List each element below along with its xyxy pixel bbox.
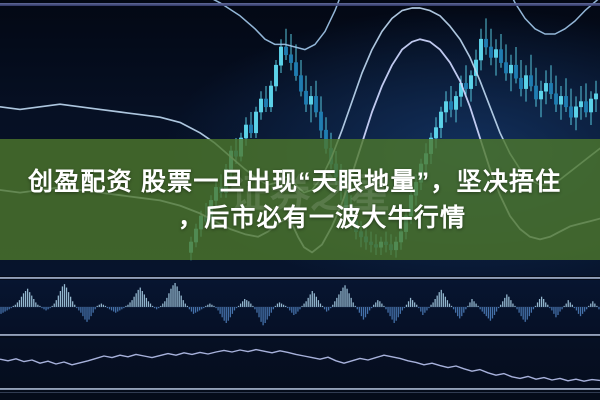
macd-bar	[176, 286, 177, 307]
macd-bar	[185, 304, 186, 307]
macd-bar	[269, 307, 270, 316]
macd-bar	[224, 307, 225, 321]
macd-bar	[35, 302, 36, 307]
macd-bar	[387, 307, 388, 313]
macd-bar	[80, 307, 81, 313]
macd-bar	[365, 307, 366, 317]
macd-bar	[277, 304, 278, 307]
candle-body	[594, 94, 597, 99]
candlestick	[584, 83, 587, 117]
macd-bar	[332, 305, 333, 307]
macd-bar	[449, 304, 450, 307]
candle-body	[319, 112, 322, 130]
candlestick	[569, 89, 572, 125]
macd-bar	[189, 307, 190, 309]
macd-bar	[230, 307, 231, 317]
macd-bar	[320, 304, 321, 307]
macd-bar	[512, 304, 513, 307]
macd-bar	[146, 298, 147, 307]
headline-line-1: 创盈配资 股票一旦出现“天眼地量”，坚决捂住	[0, 164, 600, 200]
candlestick	[539, 81, 542, 117]
macd-bar	[254, 307, 255, 309]
macd-bar	[594, 304, 595, 307]
candle-body	[249, 125, 252, 133]
candle-body	[539, 91, 542, 99]
macd-bar	[246, 300, 247, 307]
candlestick	[299, 60, 302, 96]
macd-bar	[566, 304, 567, 307]
macd-bar	[359, 307, 360, 313]
candlestick	[249, 112, 252, 138]
macd-bar	[183, 300, 184, 307]
candle-body	[584, 102, 587, 112]
macd-bar	[250, 304, 251, 307]
macd-bar	[142, 291, 143, 307]
macd-bar	[207, 305, 208, 307]
headline-overlay-band: 证券之星 创盈配资 股票一旦出现“天眼地量”，坚决捂住 ，后市必有一波大牛行情	[0, 139, 600, 260]
candlestick	[499, 34, 502, 68]
macd-bar	[84, 307, 85, 320]
macd-bar	[303, 304, 304, 307]
candlestick	[469, 70, 472, 101]
macd-bar	[586, 307, 587, 309]
macd-bar	[293, 307, 294, 315]
candlestick	[484, 18, 487, 54]
macd-bar	[533, 307, 534, 309]
macd-bar	[363, 307, 364, 320]
macd-bar	[471, 299, 472, 307]
macd-bar	[346, 289, 347, 307]
oscillator-panel	[0, 338, 600, 388]
macd-bar	[518, 307, 519, 313]
macd-bar	[578, 307, 579, 314]
candle-body	[269, 86, 272, 107]
macd-bar	[58, 296, 59, 307]
macd-bar	[240, 304, 241, 307]
candle-body	[254, 112, 257, 133]
macd-bar	[529, 307, 530, 316]
macd-bar	[445, 297, 446, 307]
macd-bar	[90, 307, 91, 316]
chart-top-border	[0, 3, 600, 6]
candle-body	[489, 47, 492, 57]
macd-bar	[117, 307, 118, 312]
macd-bar	[572, 305, 573, 307]
macd-bar	[396, 307, 397, 321]
macd-bar	[23, 293, 24, 307]
macd-bar	[543, 299, 544, 307]
candle-body	[554, 94, 557, 104]
candle-body	[444, 102, 447, 112]
macd-bar	[437, 296, 438, 307]
candlestick	[544, 70, 547, 104]
macd-bar	[525, 307, 526, 322]
macd-bar	[70, 297, 71, 307]
macd-bar	[351, 298, 352, 307]
macd-bar	[506, 294, 507, 307]
macd-bar	[334, 301, 335, 307]
macd-bar	[545, 302, 546, 307]
panel-separator-2	[0, 334, 600, 336]
macd-bar	[2, 307, 3, 313]
macd-bar	[439, 292, 440, 307]
macd-bar	[56, 300, 57, 307]
macd-bar	[516, 307, 517, 309]
macd-histogram-panel	[0, 280, 600, 334]
macd-bar	[54, 304, 55, 307]
macd-bar	[289, 307, 290, 310]
candlestick	[319, 96, 322, 138]
macd-bar	[150, 304, 151, 307]
macd-bar	[314, 293, 315, 307]
macd-bar	[262, 307, 263, 325]
candlestick	[479, 29, 482, 71]
macd-bar	[265, 307, 266, 323]
macd-bar	[402, 307, 403, 310]
macd-bar	[271, 307, 272, 313]
candlestick	[264, 86, 267, 112]
macd-bar	[420, 307, 421, 312]
macd-bar	[168, 293, 169, 307]
macd-bar	[414, 302, 415, 307]
macd-bar	[279, 302, 280, 307]
macd-bar	[348, 293, 349, 307]
candle-body	[304, 91, 307, 104]
panel-separator-1	[0, 277, 600, 279]
candlestick	[314, 81, 317, 117]
macd-bar	[99, 305, 100, 307]
macd-bar	[25, 291, 26, 307]
macd-bar	[551, 307, 552, 310]
macd-bar	[324, 307, 325, 309]
candle-body	[564, 96, 567, 106]
macd-bar	[86, 307, 87, 322]
macd-bar	[590, 304, 591, 307]
candle-body	[469, 76, 472, 89]
macd-bar	[492, 307, 493, 318]
candle-body	[274, 65, 277, 86]
candle-body	[484, 39, 487, 47]
macd-bar	[267, 307, 268, 320]
macd-bar	[45, 307, 46, 310]
candle-body	[549, 83, 552, 93]
candle-body	[454, 96, 457, 109]
macd-bar	[195, 307, 196, 313]
macd-bar	[406, 305, 407, 307]
macd-bar	[31, 296, 32, 307]
candlestick	[529, 55, 532, 91]
candlestick	[579, 86, 582, 120]
macd-bar	[199, 307, 200, 310]
macd-bar	[273, 307, 274, 309]
macd-bar	[410, 298, 411, 307]
macd-bar	[281, 304, 282, 307]
candle-body	[544, 83, 547, 91]
macd-bar	[318, 300, 319, 307]
macd-bar	[361, 307, 362, 316]
macd-bar	[510, 300, 511, 307]
candle-body	[294, 63, 297, 76]
macd-bar	[312, 291, 313, 307]
macd-bar	[310, 294, 311, 307]
macd-bar	[226, 307, 227, 323]
macd-bar	[103, 305, 104, 307]
macd-bar	[443, 293, 444, 307]
candle-body	[244, 125, 247, 138]
candlestick	[494, 39, 497, 75]
macd-bar	[484, 307, 485, 314]
macd-bar	[459, 307, 460, 318]
candle-body	[534, 86, 537, 99]
candle-body	[509, 65, 512, 73]
macd-bar	[426, 307, 427, 310]
macd-bar	[64, 284, 65, 307]
macd-bar	[430, 305, 431, 307]
candlestick	[254, 107, 257, 138]
macd-bar	[461, 307, 462, 316]
macd-bar	[369, 307, 370, 310]
macd-bar	[338, 294, 339, 307]
oscillator-svg	[0, 338, 600, 388]
macd-bar	[326, 307, 327, 312]
macd-bar	[494, 307, 495, 315]
panel-separator-3	[0, 388, 600, 390]
macd-bar	[297, 307, 298, 312]
macd-bar	[496, 307, 497, 312]
macd-bar	[283, 305, 284, 307]
macd-bar	[469, 302, 470, 307]
macd-bar	[211, 305, 212, 307]
candle-body	[579, 102, 582, 107]
macd-bar	[131, 300, 132, 307]
macd-bar	[531, 307, 532, 313]
macd-bar	[129, 302, 130, 307]
candlestick	[439, 107, 442, 138]
candlestick	[294, 44, 297, 80]
macd-bar	[222, 307, 223, 317]
macd-bar	[342, 288, 343, 307]
panel-separator-4	[0, 392, 600, 393]
macd-bar	[408, 301, 409, 307]
macd-bar	[541, 297, 542, 307]
oscillator-line	[0, 350, 600, 382]
candlestick	[594, 81, 597, 112]
candle-body	[464, 83, 467, 88]
macd-bar	[140, 288, 141, 307]
macd-bar	[375, 302, 376, 307]
macd-bar	[136, 293, 137, 307]
macd-bar	[422, 307, 423, 315]
macd-bar	[7, 307, 8, 310]
candlestick	[259, 91, 262, 120]
macd-bar	[557, 307, 558, 315]
macd-bar	[500, 305, 501, 307]
macd-bar	[490, 307, 491, 321]
candle-body	[279, 47, 282, 65]
macd-bar	[367, 307, 368, 314]
candle-body	[289, 55, 292, 63]
macd-bar	[389, 307, 390, 316]
macd-bar	[394, 307, 395, 323]
macd-bar	[584, 307, 585, 312]
macd-bar	[197, 307, 198, 312]
macd-bar	[453, 307, 454, 309]
candle-body	[574, 107, 577, 117]
macd-bar	[547, 305, 548, 307]
macd-bar	[29, 292, 30, 307]
macd-bar	[68, 292, 69, 307]
candle-body	[504, 63, 507, 73]
macd-bar	[232, 307, 233, 314]
macd-bar	[43, 307, 44, 309]
macd-bar	[242, 301, 243, 307]
macd-bar	[521, 307, 522, 316]
macd-bar	[486, 307, 487, 316]
macd-bar	[400, 307, 401, 314]
macd-bar	[398, 307, 399, 317]
candlestick	[534, 68, 537, 107]
macd-bar	[248, 301, 249, 307]
macd-bar	[539, 299, 540, 307]
candle-body	[314, 96, 317, 112]
candle-body	[299, 76, 302, 92]
macd-bar	[234, 307, 235, 310]
candle-body	[259, 99, 262, 112]
candle-body	[569, 107, 572, 117]
macd-bar	[33, 299, 34, 307]
macd-bar	[473, 301, 474, 307]
candlestick	[574, 96, 577, 130]
macd-bar	[391, 307, 392, 320]
macd-bar	[17, 302, 18, 307]
macd-bar	[228, 307, 229, 321]
macd-bar	[580, 307, 581, 316]
macd-bar	[435, 299, 436, 307]
macd-bar	[555, 307, 556, 317]
candle-body	[449, 102, 452, 110]
macd-bar	[174, 283, 175, 307]
candle-body	[514, 65, 517, 78]
macd-bar	[416, 305, 417, 307]
macd-bar	[377, 300, 378, 307]
macd-bar	[201, 307, 202, 309]
macd-bar	[559, 307, 560, 312]
macd-bar	[299, 307, 300, 309]
macd-bar	[121, 307, 122, 309]
macd-bar	[598, 307, 599, 309]
macd-bar	[193, 307, 194, 314]
macd-bar	[504, 298, 505, 307]
macd-bar	[37, 305, 38, 307]
candle-body	[589, 99, 592, 112]
macd-bar	[144, 294, 145, 307]
macd-bar	[133, 297, 134, 307]
candle-body	[519, 78, 522, 88]
macd-bar	[9, 307, 10, 309]
macd-bar	[316, 297, 317, 307]
macd-bar	[480, 307, 481, 309]
candlestick	[454, 91, 457, 122]
macd-bar	[291, 307, 292, 313]
macd-bar	[353, 302, 354, 307]
macd-bar	[21, 297, 22, 307]
macd-bar	[482, 307, 483, 312]
candle-body	[434, 128, 437, 138]
macd-bar	[328, 307, 329, 310]
macd-bar	[432, 302, 433, 307]
macd-bar	[475, 304, 476, 307]
candle-body	[494, 50, 497, 58]
macd-bar	[488, 307, 489, 318]
macd-bar	[95, 307, 96, 309]
macd-histogram-svg	[0, 280, 600, 334]
candlestick	[564, 78, 567, 112]
macd-bar	[527, 307, 528, 320]
macd-bar	[170, 289, 171, 307]
macd-bar	[447, 300, 448, 307]
candle-body	[439, 112, 442, 128]
macd-bar	[537, 302, 538, 307]
macd-bar	[66, 288, 67, 307]
candlestick	[519, 60, 522, 96]
macd-bar	[424, 307, 425, 313]
macd-bar	[4, 307, 5, 312]
macd-bar	[576, 307, 577, 310]
moving-average-line-3	[0, 0, 600, 50]
macd-bar	[508, 297, 509, 307]
macd-bar	[502, 301, 503, 307]
macd-bar	[412, 300, 413, 307]
macd-bar	[258, 307, 259, 317]
macd-bar	[113, 307, 114, 312]
macd-bar	[60, 291, 61, 307]
macd-bar	[308, 298, 309, 307]
macd-bar	[441, 290, 442, 307]
macd-bar	[219, 307, 220, 314]
macd-bar	[373, 305, 374, 307]
candlestick	[554, 76, 557, 112]
macd-bar	[19, 300, 20, 307]
candlestick	[504, 44, 507, 80]
macd-bar	[209, 304, 210, 307]
macd-bar	[295, 307, 296, 314]
candle-body	[264, 99, 267, 107]
macd-bar	[109, 307, 110, 309]
macd-bar	[156, 307, 157, 309]
macd-bar	[568, 300, 569, 307]
candlestick	[589, 91, 592, 125]
macd-bar	[78, 307, 79, 310]
macd-bar	[181, 296, 182, 307]
candlestick	[269, 81, 272, 112]
macd-bar	[166, 298, 167, 307]
macd-bar	[457, 307, 458, 316]
macd-bar	[217, 307, 218, 310]
macd-bar	[93, 307, 94, 313]
macd-bar	[62, 286, 63, 307]
macd-bar	[340, 291, 341, 307]
macd-bar	[523, 307, 524, 320]
headline-line-2: ，后市必有一波大牛行情	[0, 200, 600, 236]
macd-bar	[88, 307, 89, 320]
macd-bar	[191, 307, 192, 312]
macd-bar	[357, 307, 358, 309]
macd-bar	[0, 307, 1, 314]
macd-bar	[305, 301, 306, 307]
candlestick	[509, 55, 512, 91]
candle-body	[479, 39, 482, 60]
macd-bar	[463, 307, 464, 313]
